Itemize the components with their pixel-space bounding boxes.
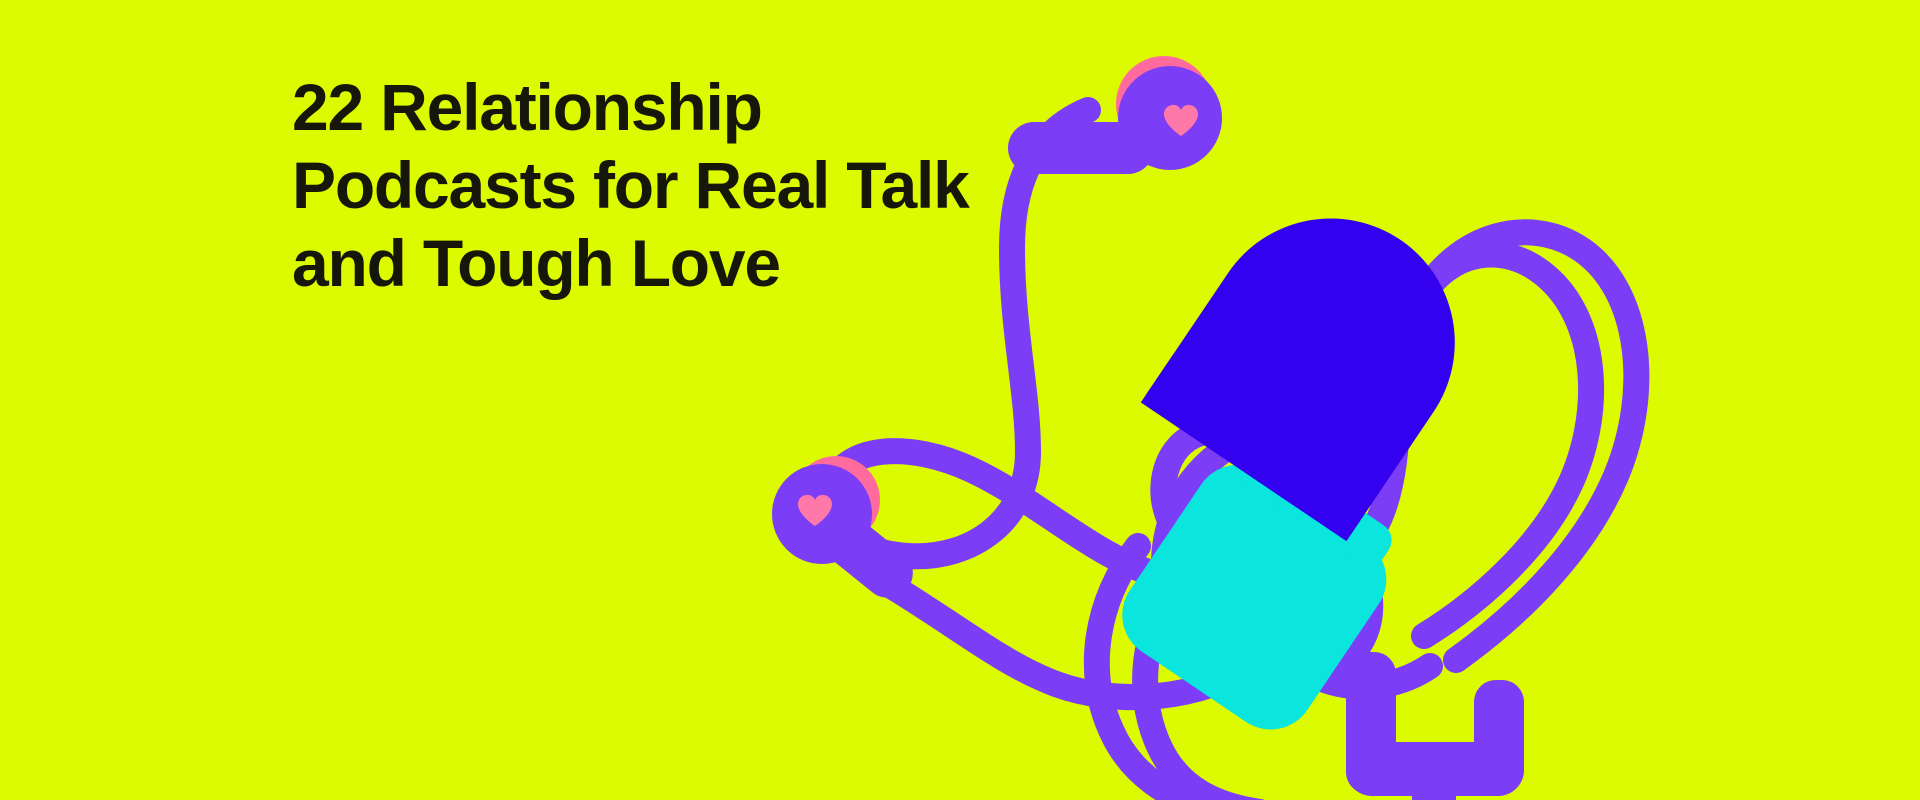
stand-post	[1412, 780, 1456, 800]
headline-block: 22 Relationship Podcasts for Real Talk a…	[292, 68, 1052, 302]
cable-right-loop	[1420, 232, 1636, 660]
hero-banner: 22 Relationship Podcasts for Real Talk a…	[0, 0, 1920, 800]
earbud-bottom-left	[772, 456, 913, 598]
page-title: 22 Relationship Podcasts for Real Talk a…	[292, 68, 1052, 302]
stand-yoke-arm-right	[1474, 680, 1524, 790]
